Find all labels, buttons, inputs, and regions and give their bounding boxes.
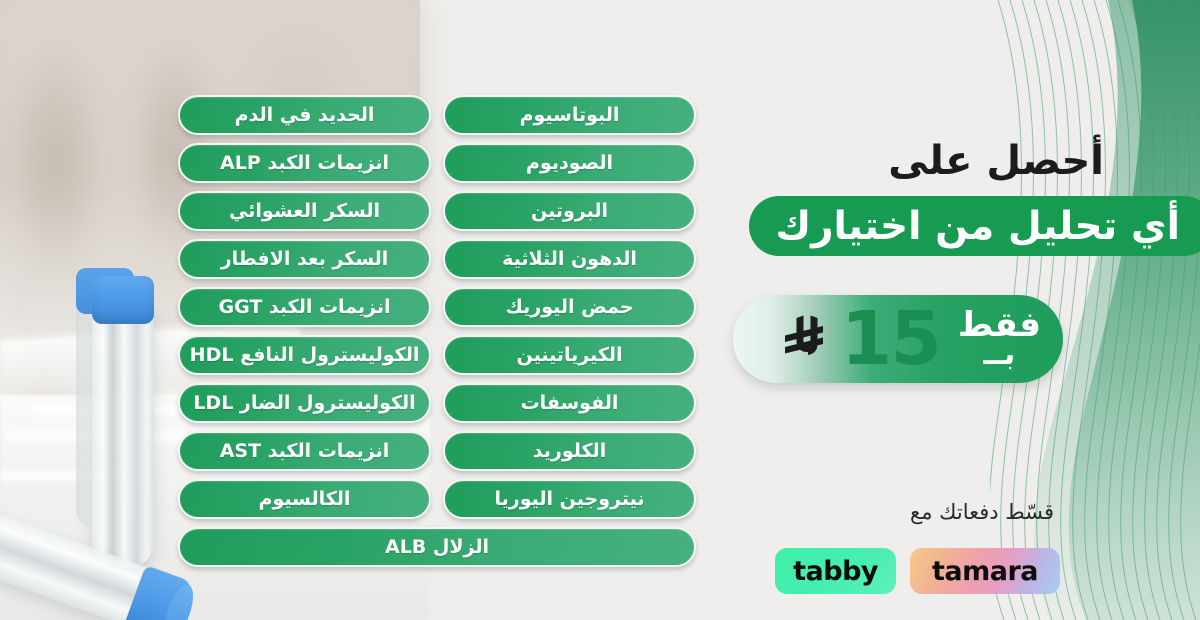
headline-secondary: أي تحليل من اختيارك xyxy=(749,196,1200,256)
tube-glass xyxy=(92,306,154,568)
headline-primary: أحصل على xyxy=(888,138,1104,184)
installment-note: قسّط دفعاتك مع xyxy=(910,500,1054,524)
test-pill-phosphate[interactable]: الفوسفات xyxy=(443,383,696,423)
price-label-line2: بــ xyxy=(984,340,1016,370)
test-pill-protein[interactable]: البروتين xyxy=(443,191,696,231)
test-pill-creatinine[interactable]: الكيرياتينين xyxy=(443,335,696,375)
test-row: نيتروجين اليوريا الكالسيوم xyxy=(178,479,696,519)
tamara-logo[interactable]: tamara xyxy=(910,548,1060,594)
payment-providers: tamara tabby xyxy=(775,548,1060,594)
price-amount: 15 xyxy=(841,302,940,376)
test-pill-chloride[interactable]: الكلوريد xyxy=(443,431,696,471)
test-row: الكيرياتينين الكوليسترول النافع HDL xyxy=(178,335,696,375)
test-row: البوتاسيوم الحديد في الدم xyxy=(178,95,696,135)
promo-banner: البوتاسيوم الحديد في الدم الصوديوم انزيم… xyxy=(0,0,1200,620)
test-row: حمض اليوريك انزيمات الكبد GGT xyxy=(178,287,696,327)
test-pill-liver-ast[interactable]: انزيمات الكبد AST xyxy=(178,431,431,471)
test-row: البروتين السكر العشوائي xyxy=(178,191,696,231)
test-pill-sodium[interactable]: الصوديوم xyxy=(443,143,696,183)
test-pill-liver-alp[interactable]: انزيمات الكبد ALP xyxy=(178,143,431,183)
test-pill-potassium[interactable]: البوتاسيوم xyxy=(443,95,696,135)
test-pill-calcium[interactable]: الكالسيوم xyxy=(178,479,431,519)
test-pill-albumin[interactable]: الزلال ALB xyxy=(178,527,696,567)
price-label: فقط بــ xyxy=(958,308,1041,370)
test-row: الصوديوم انزيمات الكبد ALP xyxy=(178,143,696,183)
test-pill-postprandial-glucose[interactable]: السكر بعد الافطار xyxy=(178,239,431,279)
price-badge: فقط بــ 15 xyxy=(733,295,1063,383)
test-pill-ldl-cholesterol[interactable]: الكوليسترول الضار LDL xyxy=(178,383,431,423)
test-pill-hdl-cholesterol[interactable]: الكوليسترول النافع HDL xyxy=(178,335,431,375)
tabby-logo[interactable]: tabby xyxy=(775,548,896,594)
test-row: الكلوريد انزيمات الكبد AST xyxy=(178,431,696,471)
test-pill-uric-acid[interactable]: حمض اليوريك xyxy=(443,287,696,327)
test-pill-blood-iron[interactable]: الحديد في الدم xyxy=(178,95,431,135)
test-pill-liver-ggt[interactable]: انزيمات الكبد GGT xyxy=(178,287,431,327)
test-row: الدهون الثلاثية السكر بعد الافطار xyxy=(178,239,696,279)
test-pill-triglycerides[interactable]: الدهون الثلاثية xyxy=(443,239,696,279)
test-row: الزلال ALB xyxy=(178,527,696,567)
test-pill-urea-nitrogen[interactable]: نيتروجين اليوريا xyxy=(443,479,696,519)
test-row: الفوسفات الكوليسترول الضار LDL xyxy=(178,383,696,423)
test-pill-random-glucose[interactable]: السكر العشوائي xyxy=(178,191,431,231)
test-list-grid: البوتاسيوم الحديد في الدم الصوديوم انزيم… xyxy=(178,95,696,567)
saudi-riyal-icon xyxy=(783,314,831,364)
tube-cap xyxy=(92,276,154,324)
test-tube-upright xyxy=(92,268,154,568)
